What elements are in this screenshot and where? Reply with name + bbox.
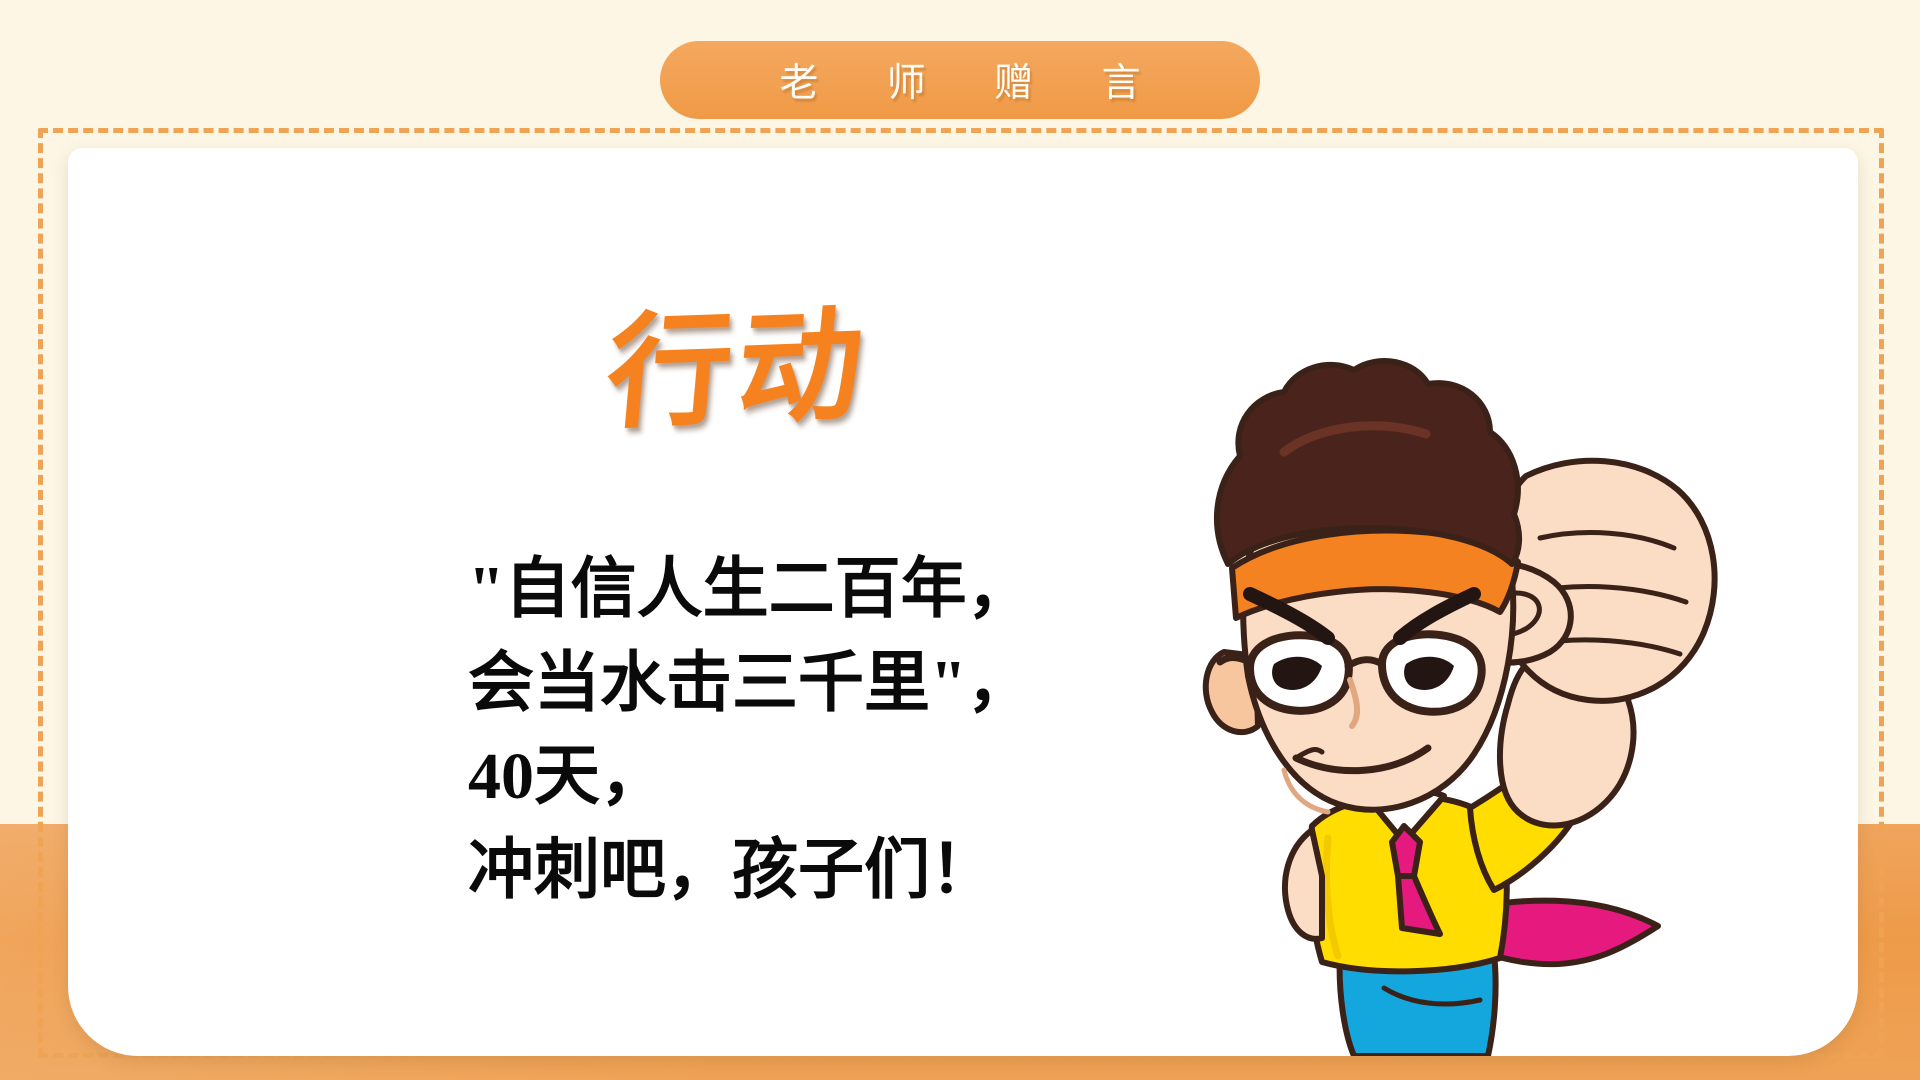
quote-line-1: "自信人生二百年， xyxy=(468,543,1168,637)
quote-line-3: 40天， xyxy=(468,730,1168,824)
mascot-illustration xyxy=(1188,356,1748,1056)
header-title: 老 师 赠 言 xyxy=(751,52,1168,108)
quote-block: "自信人生二百年， 会当水击三千里"， 40天， 冲刺吧，孩子们！ xyxy=(468,543,1168,918)
slide-canvas: 行动 "自信人生二百年， 会当水击三千里"， 40天， 冲刺吧，孩子们！ xyxy=(0,0,1920,1080)
brush-calligraphy-title: 行动 xyxy=(602,304,874,437)
header-pill: 老 师 赠 言 xyxy=(660,41,1260,119)
content-card: 行动 "自信人生二百年， 会当水击三千里"， 40天， 冲刺吧，孩子们！ xyxy=(68,148,1858,1056)
left-arm xyxy=(1285,830,1322,939)
quote-line-2: 会当水击三千里"， xyxy=(468,637,1168,731)
quote-line-4: 冲刺吧，孩子们！ xyxy=(468,824,1168,918)
